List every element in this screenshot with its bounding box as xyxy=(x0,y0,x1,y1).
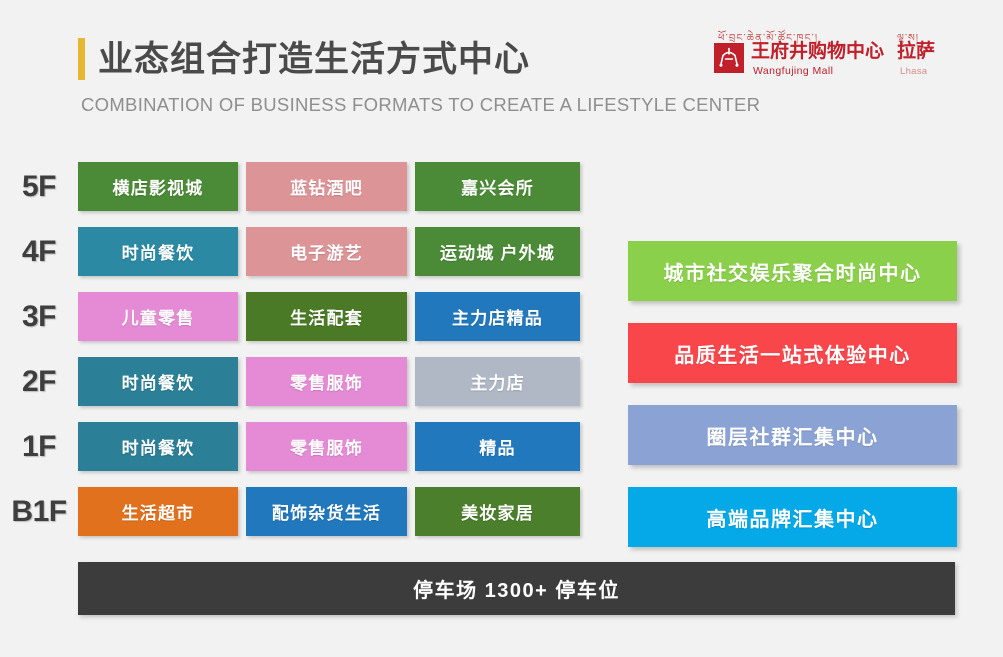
logo-name-en: Wangfujing Mall xyxy=(753,65,833,77)
floor-cell[interactable]: 蓝钻酒吧 xyxy=(246,162,407,211)
floor-cells: 儿童零售生活配套主力店精品 xyxy=(78,292,580,341)
floor-cell[interactable]: 电子游艺 xyxy=(246,227,407,276)
title-row: 业态组合打造生活方式中心 xyxy=(78,38,760,80)
floor-cell[interactable]: 配饰杂货生活 xyxy=(246,487,407,536)
logo-separator: · xyxy=(874,42,880,64)
floor-cell[interactable]: 横店影视城 xyxy=(78,162,238,211)
floor-row: 2F时尚餐饮零售服饰主力店 xyxy=(0,357,600,406)
positioning-panel[interactable]: 高端品牌汇集中心 xyxy=(628,487,957,547)
positioning-panel[interactable]: 品质生活一站式体验中心 xyxy=(628,323,957,383)
floor-cell[interactable]: 零售服饰 xyxy=(246,357,407,406)
floor-label-2f: 2F xyxy=(0,365,78,399)
floor-directory-grid: 5F横店影视城蓝钻酒吧嘉兴会所4F时尚餐饮电子游艺运动城 户外城3F儿童零售生活… xyxy=(0,162,600,552)
floor-cells: 时尚餐饮零售服饰精品 xyxy=(78,422,580,471)
title-block: 业态组合打造生活方式中心 COMBINATION OF BUSINESS FOR… xyxy=(78,38,760,116)
floor-cell[interactable]: 生活配套 xyxy=(246,292,407,341)
positioning-panel[interactable]: 城市社交娱乐聚合时尚中心 xyxy=(628,241,957,301)
floor-cell[interactable]: 精品 xyxy=(415,422,580,471)
floor-cell[interactable]: 美妆家居 xyxy=(415,487,580,536)
floor-label-1f: 1F xyxy=(0,430,78,464)
logo-city-en: Lhasa xyxy=(900,66,927,77)
floor-cell[interactable]: 主力店精品 xyxy=(415,292,580,341)
positioning-panel[interactable]: 圈层社群汇集中心 xyxy=(628,405,957,465)
floor-row: 4F时尚餐饮电子游艺运动城 户外城 xyxy=(0,227,600,276)
floor-label-3f: 3F xyxy=(0,300,78,334)
floor-cell[interactable]: 运动城 户外城 xyxy=(415,227,580,276)
page-title: 业态组合打造生活方式中心 xyxy=(98,42,530,77)
floor-label-b1f: B1F xyxy=(0,495,78,529)
page-header: 业态组合打造生活方式中心 COMBINATION OF BUSINESS FOR… xyxy=(0,0,1003,150)
title-accent-bar xyxy=(78,38,85,80)
floor-cell[interactable]: 零售服饰 xyxy=(246,422,407,471)
floor-cell[interactable]: 嘉兴会所 xyxy=(415,162,580,211)
floor-cell[interactable]: 时尚餐饮 xyxy=(78,422,238,471)
parking-bar: 停车场 1300+ 停车位 xyxy=(78,562,955,615)
floor-row: B1F生活超市配饰杂货生活美妆家居 xyxy=(0,487,600,536)
page-subtitle: COMBINATION OF BUSINESS FORMATS TO CREAT… xyxy=(81,94,760,116)
floor-cells: 生活超市配饰杂货生活美妆家居 xyxy=(78,487,580,536)
floor-row: 5F横店影视城蓝钻酒吧嘉兴会所 xyxy=(0,162,600,211)
floor-label-4f: 4F xyxy=(0,235,78,269)
floor-label-5f: 5F xyxy=(0,170,78,204)
floor-cell[interactable]: 主力店 xyxy=(415,357,580,406)
logo-name-cn: 王府井购物中心 xyxy=(751,42,884,63)
floor-cell[interactable]: 生活超市 xyxy=(78,487,238,536)
floor-cells: 时尚餐饮零售服饰主力店 xyxy=(78,357,580,406)
floor-cells: 时尚餐饮电子游艺运动城 户外城 xyxy=(78,227,580,276)
floor-cell[interactable]: 时尚餐饮 xyxy=(78,357,238,406)
floor-cells: 横店影视城蓝钻酒吧嘉兴会所 xyxy=(78,162,580,211)
brand-logo: ཕོ་བྲང་ཆེན་མོ་ཚོང་ཁང་། ལྷ་ས། 王府井购物中心 Wan… xyxy=(712,27,942,85)
floor-row: 3F儿童零售生活配套主力店精品 xyxy=(0,292,600,341)
floor-row: 1F时尚餐饮零售服饰精品 xyxy=(0,422,600,471)
wangfujing-logo-icon xyxy=(714,43,744,73)
logo-city-cn: 拉萨 xyxy=(897,42,935,63)
floor-cell[interactable]: 儿童零售 xyxy=(78,292,238,341)
positioning-panels: 城市社交娱乐聚合时尚中心品质生活一站式体验中心圈层社群汇集中心高端品牌汇集中心 xyxy=(628,241,957,547)
floor-cell[interactable]: 时尚餐饮 xyxy=(78,227,238,276)
